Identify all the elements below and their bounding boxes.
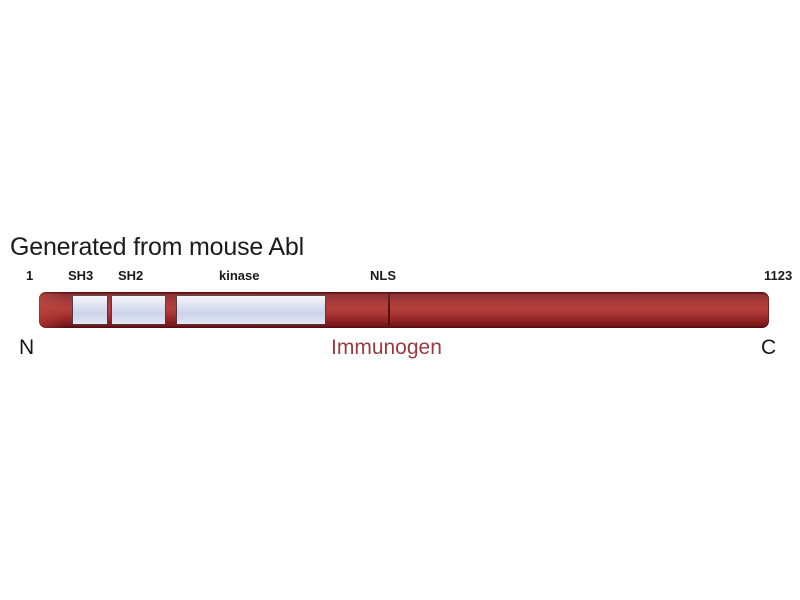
protein-backbone [39,292,769,328]
page-title: Generated from mouse Abl [10,233,304,261]
nls-tick-marker [388,294,390,326]
domain-box-kinase [176,295,326,325]
domain-label-sh2: SH2 [118,268,143,283]
n-terminus-label: N [19,336,34,360]
domain-label-kinase: kinase [219,268,259,283]
domain-label-sh3: SH3 [68,268,93,283]
domain-box-sh3 [72,295,108,325]
residue-end-label: 1123 [764,268,792,283]
backbone-n-sheen [39,292,65,328]
immunogen-label: Immunogen [331,335,442,360]
residue-start-label: 1 [26,268,33,283]
site-label-nls: NLS [370,268,396,283]
protein-domain-figure: Generated from mouse Abl 1 SH3 SH2 kinas… [0,0,800,600]
c-terminus-label: C [761,336,776,360]
domain-box-sh2 [111,295,166,325]
